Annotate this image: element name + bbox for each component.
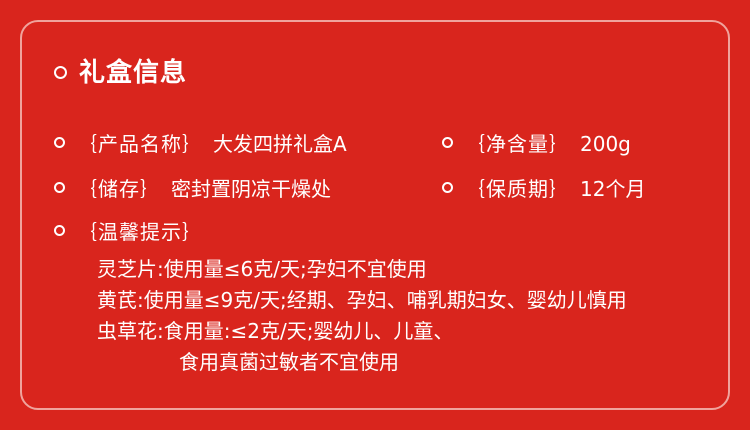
field-product-name-value: 大发四拼礼盒A xyxy=(213,132,347,156)
field-net-content-value: 200g xyxy=(580,132,631,156)
field-storage-label: ｛储存｝ xyxy=(77,177,161,201)
note-line-lingzhi: 灵芝片:使用量≤6克/天;孕妇不宜使用 xyxy=(97,254,627,285)
field-net-content: ｛净含量｝ 200g xyxy=(442,132,631,156)
field-shelf-life-value: 12个月 xyxy=(580,177,645,201)
page-title: 礼盒信息 xyxy=(79,60,187,86)
field-storage: ｛储存｝ 密封置阴凉干燥处 xyxy=(54,177,331,201)
note-line-huangqi: 黄芪:使用量≤9克/天;经期、孕妇、哺乳期妇女、婴幼儿慎用 xyxy=(97,285,627,316)
field-product-name-label: ｛产品名称｝ xyxy=(77,132,203,156)
circle-bullet-icon xyxy=(442,182,453,193)
field-shelf-life: ｛保质期｝ 12个月 xyxy=(442,177,645,201)
field-warm-tips-label: ｛温馨提示｝ xyxy=(77,220,203,244)
field-shelf-life-label: ｛保质期｝ xyxy=(465,177,570,201)
card-title-row: 礼盒信息 xyxy=(54,60,187,86)
field-warm-tips: ｛温馨提示｝ xyxy=(54,220,203,244)
circle-bullet-icon xyxy=(54,182,65,193)
circle-bullet-icon xyxy=(54,225,65,236)
field-storage-value: 密封置阴凉干燥处 xyxy=(171,177,331,201)
circle-bullet-icon xyxy=(442,137,453,148)
circle-bullet-icon xyxy=(54,66,67,79)
note-line-allergy: 食用真菌过敏者不宜使用 xyxy=(97,347,627,378)
circle-bullet-icon xyxy=(54,137,65,148)
gift-box-info-card: 礼盒信息 ｛产品名称｝ 大发四拼礼盒A ｛净含量｝ 200g ｛储存｝ 密封置阴… xyxy=(20,20,730,410)
field-net-content-label: ｛净含量｝ xyxy=(465,132,570,156)
field-product-name: ｛产品名称｝ 大发四拼礼盒A xyxy=(54,132,347,156)
warm-tips-notes: 灵芝片:使用量≤6克/天;孕妇不宜使用 黄芪:使用量≤9克/天;经期、孕妇、哺乳… xyxy=(97,254,627,378)
note-line-chongcaohua: 虫草花:食用量:≤2克/天;婴幼儿、儿童、 xyxy=(97,316,627,347)
